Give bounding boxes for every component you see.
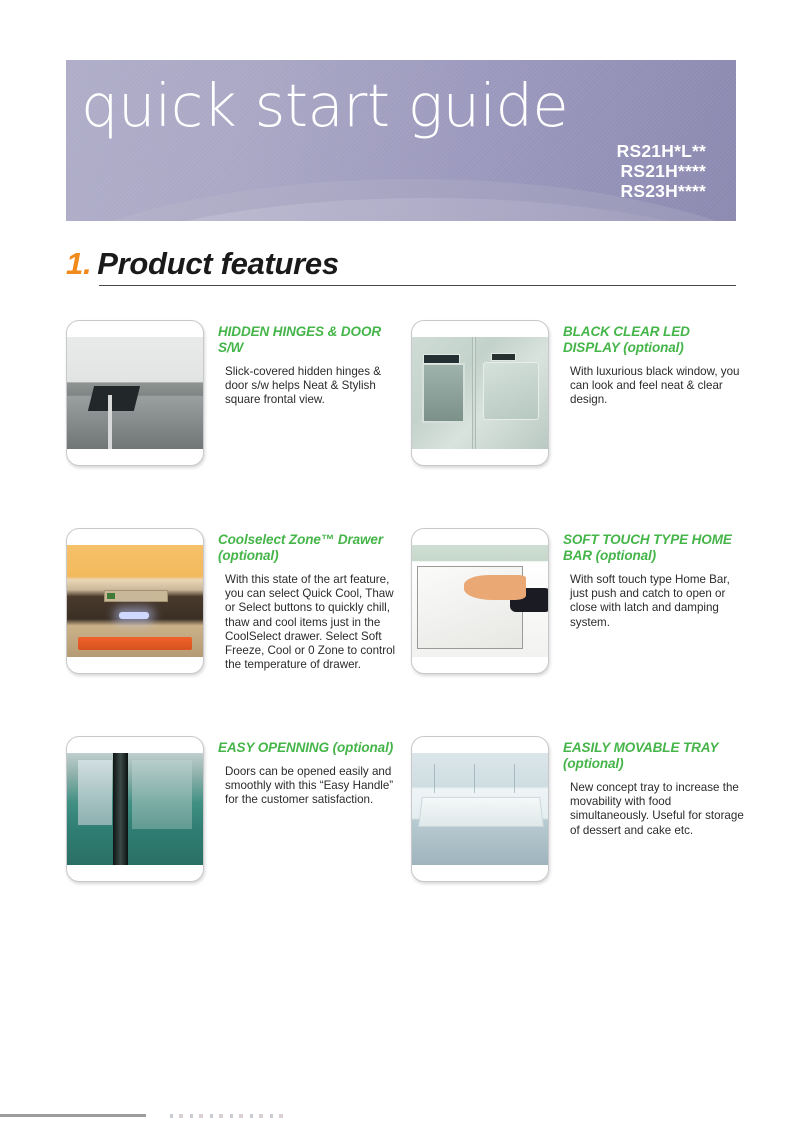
feature-text-block: Coolselect Zone™ Drawer (optional) With … [218, 532, 396, 672]
coolselect-zone-drawer-photo [66, 528, 204, 674]
feature-row: Coolselect Zone™ Drawer (optional) With … [66, 528, 742, 736]
black-clear-led-display-image [412, 337, 548, 449]
feature-text-block: BLACK CLEAR LED DISPLAY (optional) With … [563, 324, 748, 408]
easy-openning-photo [66, 736, 204, 882]
feature-title: HIDDEN HINGES & DOOR S/W [218, 324, 396, 356]
water-dispenser [422, 363, 465, 423]
interior-rib [434, 764, 435, 793]
feature-body: With luxurious black window, you can loo… [570, 365, 748, 408]
movable-tray-shelf [418, 796, 544, 826]
door-handle-frame [113, 753, 128, 865]
drawer-front-bar [78, 637, 192, 650]
feature-text-block: HIDDEN HINGES & DOOR S/W Slick-covered h… [218, 324, 396, 408]
model-number: RS21H*L** [617, 141, 706, 161]
feature-title: Coolselect Zone™ Drawer (optional) [218, 532, 396, 564]
footer-rule [0, 1114, 146, 1117]
soft-touch-home-bar-image [412, 545, 548, 657]
feature-title: BLACK CLEAR LED DISPLAY (optional) [563, 324, 748, 356]
feature-thumbnail-wrap [66, 320, 204, 466]
feature-grid: HIDDEN HINGES & DOOR S/W Slick-covered h… [66, 320, 742, 936]
model-number: RS23H**** [617, 181, 706, 201]
feature-thumbnail-wrap [66, 528, 204, 674]
feature-thumbnail-wrap [66, 736, 204, 882]
section-divider [99, 285, 736, 286]
black-clear-led-display-photo [411, 320, 549, 466]
right-door-glass [132, 760, 192, 830]
feature-text-block: EASY OPENNING (optional) Doors can be op… [218, 740, 396, 808]
hidden-hinges-photo [66, 320, 204, 466]
feature-thumbnail-wrap [411, 736, 549, 882]
hidden-hinges-image [67, 337, 203, 449]
drawer-light-glow [119, 612, 149, 619]
coolselect-control-panel [104, 590, 169, 602]
feature-text-block: SOFT TOUCH TYPE HOME BAR (optional) With… [563, 532, 748, 630]
easily-movable-tray-image [412, 753, 548, 865]
section-heading: 1.Product features [66, 246, 736, 286]
page-title: Product features [97, 246, 339, 281]
easy-openning-image [67, 753, 203, 865]
left-door-glass [78, 760, 112, 825]
feature-body: With this state of the art feature, you … [225, 573, 396, 672]
feature-thumbnail-wrap [411, 528, 549, 674]
feature-body: New concept tray to increase the movabil… [570, 781, 748, 838]
feature-body: Doors can be opened easily and smoothly … [225, 765, 396, 808]
model-number-list: RS21H*L** RS21H**** RS23H**** [617, 141, 706, 201]
feature-title: SOFT TOUCH TYPE HOME BAR (optional) [563, 532, 748, 564]
led-panel-left [423, 354, 460, 364]
banner-title: quick start guide [81, 76, 568, 135]
coolselect-zone-image [67, 545, 203, 657]
footer-artifact-marks [170, 1114, 290, 1118]
feature-body: Slick-covered hidden hinges & door s/w h… [225, 365, 396, 408]
feature-body: With soft touch type Home Bar, just push… [570, 573, 748, 630]
feature-title: EASY OPENNING (optional) [218, 740, 396, 756]
soft-touch-home-bar-photo [411, 528, 549, 674]
hand-shape [464, 575, 527, 600]
banner-swoosh-shape-secondary [66, 198, 736, 221]
feature-row: HIDDEN HINGES & DOOR S/W Slick-covered h… [66, 320, 742, 528]
feature-title: EASILY MOVABLE TRAY (optional) [563, 740, 748, 772]
header-banner: quick start guide RS21H*L** RS21H**** RS… [66, 60, 736, 221]
home-bar-door [483, 362, 539, 420]
section-number: 1. [66, 246, 91, 281]
model-number: RS21H**** [617, 161, 706, 181]
section-heading-line: 1.Product features [66, 246, 736, 282]
fridge-door-seam [472, 337, 476, 449]
feature-row: EASY OPENNING (optional) Doors can be op… [66, 736, 742, 936]
easily-movable-tray-photo [411, 736, 549, 882]
feature-text-block: EASILY MOVABLE TRAY (optional) New conce… [563, 740, 748, 838]
feature-thumbnail-wrap [411, 320, 549, 466]
led-panel-right [491, 353, 516, 362]
